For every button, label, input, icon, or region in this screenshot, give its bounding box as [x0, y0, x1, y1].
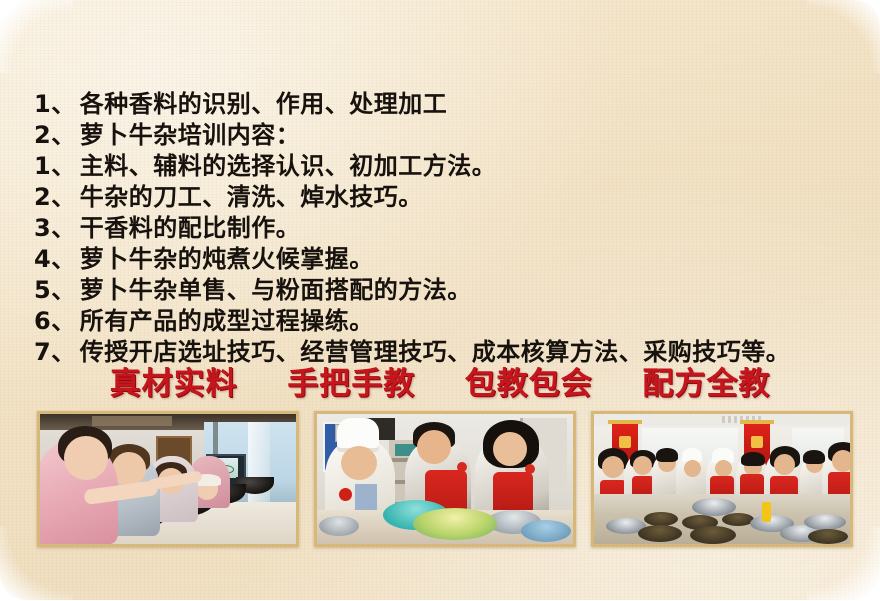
corner-top-left — [0, 0, 73, 73]
list-item-number: 6 — [34, 307, 51, 335]
list-item-number: 1 — [34, 90, 51, 118]
tagline-item-2: 包教包会 — [465, 358, 593, 403]
list-item-separator: 、 — [51, 84, 80, 119]
photo-group-class — [591, 411, 853, 547]
photo-chef-instructing — [314, 411, 576, 547]
corner-top-right — [807, 0, 880, 73]
list-item-number: 5 — [34, 276, 51, 304]
list-item: 3 、 干香料的配比制作。 — [34, 208, 864, 239]
list-item: 2 、 萝卜牛杂培训内容： — [34, 115, 864, 146]
list-item: 2 、 牛杂的刀工、清洗、焯水技巧。 — [34, 177, 864, 208]
tagline-item-3: 配方全教 — [642, 358, 770, 403]
list-item-number: 2 — [34, 121, 51, 149]
list-item-text: 萝卜牛杂的炖煮火候掌握。 — [80, 239, 374, 274]
list-item-separator: 、 — [51, 177, 80, 212]
poster-canvas: 1 、 各种香料的识别、作用、处理加工 2 、 萝卜牛杂培训内容： 1 、 主料… — [0, 0, 880, 600]
tagline-item-0: 真材实料 — [110, 358, 238, 403]
list-item: 1 、 各种香料的识别、作用、处理加工 — [34, 84, 864, 115]
list-item-text: 牛杂的刀工、清洗、焯水技巧。 — [80, 177, 423, 212]
list-item-text: 萝卜牛杂培训内容： — [80, 115, 301, 150]
list-item-text: 干香料的配比制作。 — [80, 208, 301, 243]
list-item-separator: 、 — [51, 208, 80, 243]
list-item: 1 、 主料、辅料的选择认识、初加工方法。 — [34, 146, 864, 177]
list-item-number: 2 — [34, 183, 51, 211]
list-item-separator: 、 — [51, 239, 80, 274]
list-item-text: 萝卜牛杂单售、与粉面搭配的方法。 — [80, 270, 472, 305]
list-item-number: 3 — [34, 214, 51, 242]
list-item: 4 、 萝卜牛杂的炖煮火候掌握。 — [34, 239, 864, 270]
course-outline-list: 1 、 各种香料的识别、作用、处理加工 2 、 萝卜牛杂培训内容： 1 、 主料… — [34, 84, 864, 363]
list-item-separator: 、 — [51, 270, 80, 305]
tagline-item-1: 手把手教 — [287, 358, 415, 403]
list-item-text: 主料、辅料的选择认识、初加工方法。 — [80, 146, 497, 181]
list-item-separator: 、 — [51, 301, 80, 336]
list-item-separator: 、 — [51, 146, 80, 181]
promo-tagline: 真材实料 手把手教 包教包会 配方全教 — [0, 358, 880, 403]
photo-strip — [37, 411, 853, 547]
list-item: 6 、 所有产品的成型过程操练。 — [34, 301, 864, 332]
list-item-text: 所有产品的成型过程操练。 — [80, 301, 374, 336]
list-item-number: 1 — [34, 152, 51, 180]
list-item-separator: 、 — [51, 115, 80, 150]
list-item: 5 、 萝卜牛杂单售、与粉面搭配的方法。 — [34, 270, 864, 301]
list-item-text: 各种香料的识别、作用、处理加工 — [80, 84, 448, 119]
list-item-number: 4 — [34, 245, 51, 273]
photo-students-at-woks — [37, 411, 299, 547]
